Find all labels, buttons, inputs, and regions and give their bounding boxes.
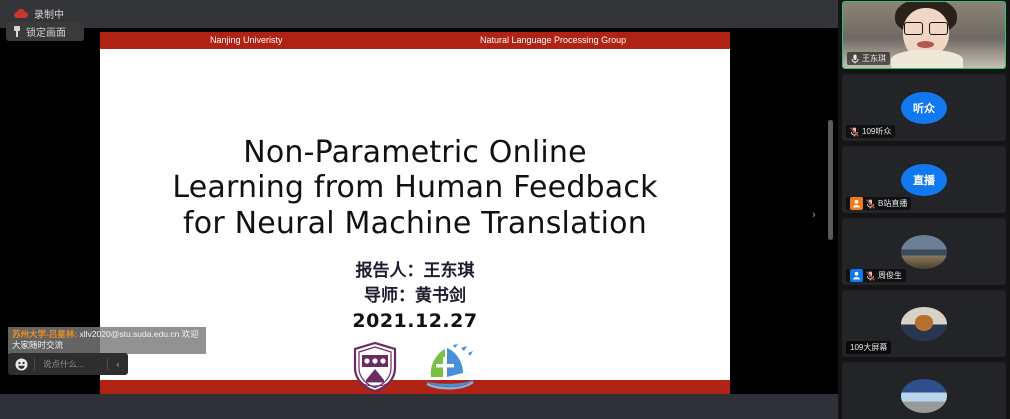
participant-name: 109大屏幕 (850, 342, 887, 353)
smiley-face-icon[interactable] (8, 358, 34, 371)
participant-label: 王东琪 (847, 52, 890, 65)
participant-tile-livestream[interactable]: 直播 B站直播 (842, 146, 1006, 213)
slide-date: 2021.12.27 (352, 310, 477, 332)
participant-label: 109听众 (846, 125, 895, 138)
participant-tile-4[interactable]: 周俊生 (842, 218, 1006, 285)
nanjing-university-shield-logo (353, 342, 397, 392)
cloud-record-icon (14, 9, 28, 18)
participant-label: 109大屏幕 (846, 341, 891, 354)
expand-panel-chevron-icon[interactable]: › (812, 210, 816, 221)
participant-tile-6[interactable] (842, 362, 1006, 419)
participant-name: 王东琪 (862, 53, 886, 64)
pin-icon (13, 26, 21, 37)
participant-tile-bigscreen[interactable]: 109大屏幕 (842, 290, 1006, 357)
participant-avatar (901, 307, 947, 341)
slide-header-bar: Nanjing Univeristy Natural Language Proc… (100, 32, 730, 49)
slide-logo-row (353, 342, 477, 392)
participant-tile-active-speaker[interactable]: 王东琪 (842, 1, 1006, 69)
audience-avatar-circle: 听众 (901, 92, 947, 124)
mic-off-icon (866, 271, 875, 281)
recording-indicator: 录制中 (8, 4, 70, 22)
cohost-badge-icon (850, 269, 863, 282)
participant-name: 周俊生 (878, 270, 902, 281)
slide-title-line-1: Non-Parametric Online (172, 135, 657, 170)
recording-label: 录制中 (34, 6, 64, 21)
webcam-glasses (903, 22, 949, 33)
chat-collapse-button[interactable]: ‹ (108, 359, 128, 369)
host-badge-icon (850, 197, 863, 210)
livestream-avatar-circle: 直播 (901, 164, 947, 196)
chat-input-placeholder[interactable]: 说点什么... (35, 358, 107, 370)
slide-advisor: 导师：黄书剑 (356, 284, 475, 309)
stage-scrollbar[interactable] (828, 120, 833, 240)
slide-header-university: Nanjing Univeristy (210, 35, 283, 45)
chat-message: 苏州大学-吕星林: xllv2020@stu.suda.edu.cn 欢迎大家随… (8, 327, 206, 354)
lock-screen-label: 锁定画面 (26, 24, 66, 39)
participant-tile-audience[interactable]: 听众 109听众 (842, 74, 1006, 141)
meeting-screen-share-window: 录制中 锁定画面 Nanjing Univeristy Natural Lang… (0, 0, 1010, 419)
participant-label: 周俊生 (846, 269, 906, 282)
slide-credits: 报告人：王东琪 导师：黄书剑 (356, 259, 475, 308)
webcam-mouth (917, 41, 934, 48)
slide-title-line-3: for Neural Machine Translation (172, 206, 657, 241)
chat-message-sender: 苏州大学-吕星林: (12, 329, 77, 339)
participant-avatar (901, 379, 947, 413)
participant-avatar (901, 235, 947, 269)
shared-screen-stage: 录制中 锁定画面 Nanjing Univeristy Natural Lang… (0, 0, 838, 419)
webcam-body (891, 50, 963, 69)
participant-name: B站直播 (878, 198, 907, 209)
slide-header-group: Natural Language Processing Group (480, 35, 626, 45)
mic-off-icon (850, 127, 859, 137)
mic-on-icon (851, 54, 859, 64)
participant-name: 109听众 (862, 126, 891, 137)
stage-bottom-bar (0, 394, 838, 419)
slide-title-line-2: Learning from Human Feedback (172, 170, 657, 205)
slide-title: Non-Parametric Online Learning from Huma… (172, 135, 657, 241)
nlp-group-logo (423, 343, 477, 391)
participant-rail[interactable]: 王东琪 听众 109听众 直播 (838, 0, 1010, 419)
mic-off-icon (866, 199, 875, 209)
participant-label: B站直播 (846, 197, 911, 210)
stage-top-bar (0, 0, 838, 28)
slide-presenter: 报告人：王东琪 (356, 259, 475, 284)
lock-screen-button[interactable]: 锁定画面 (6, 22, 84, 41)
chat-input-bar[interactable]: 说点什么... ‹ (8, 353, 128, 375)
